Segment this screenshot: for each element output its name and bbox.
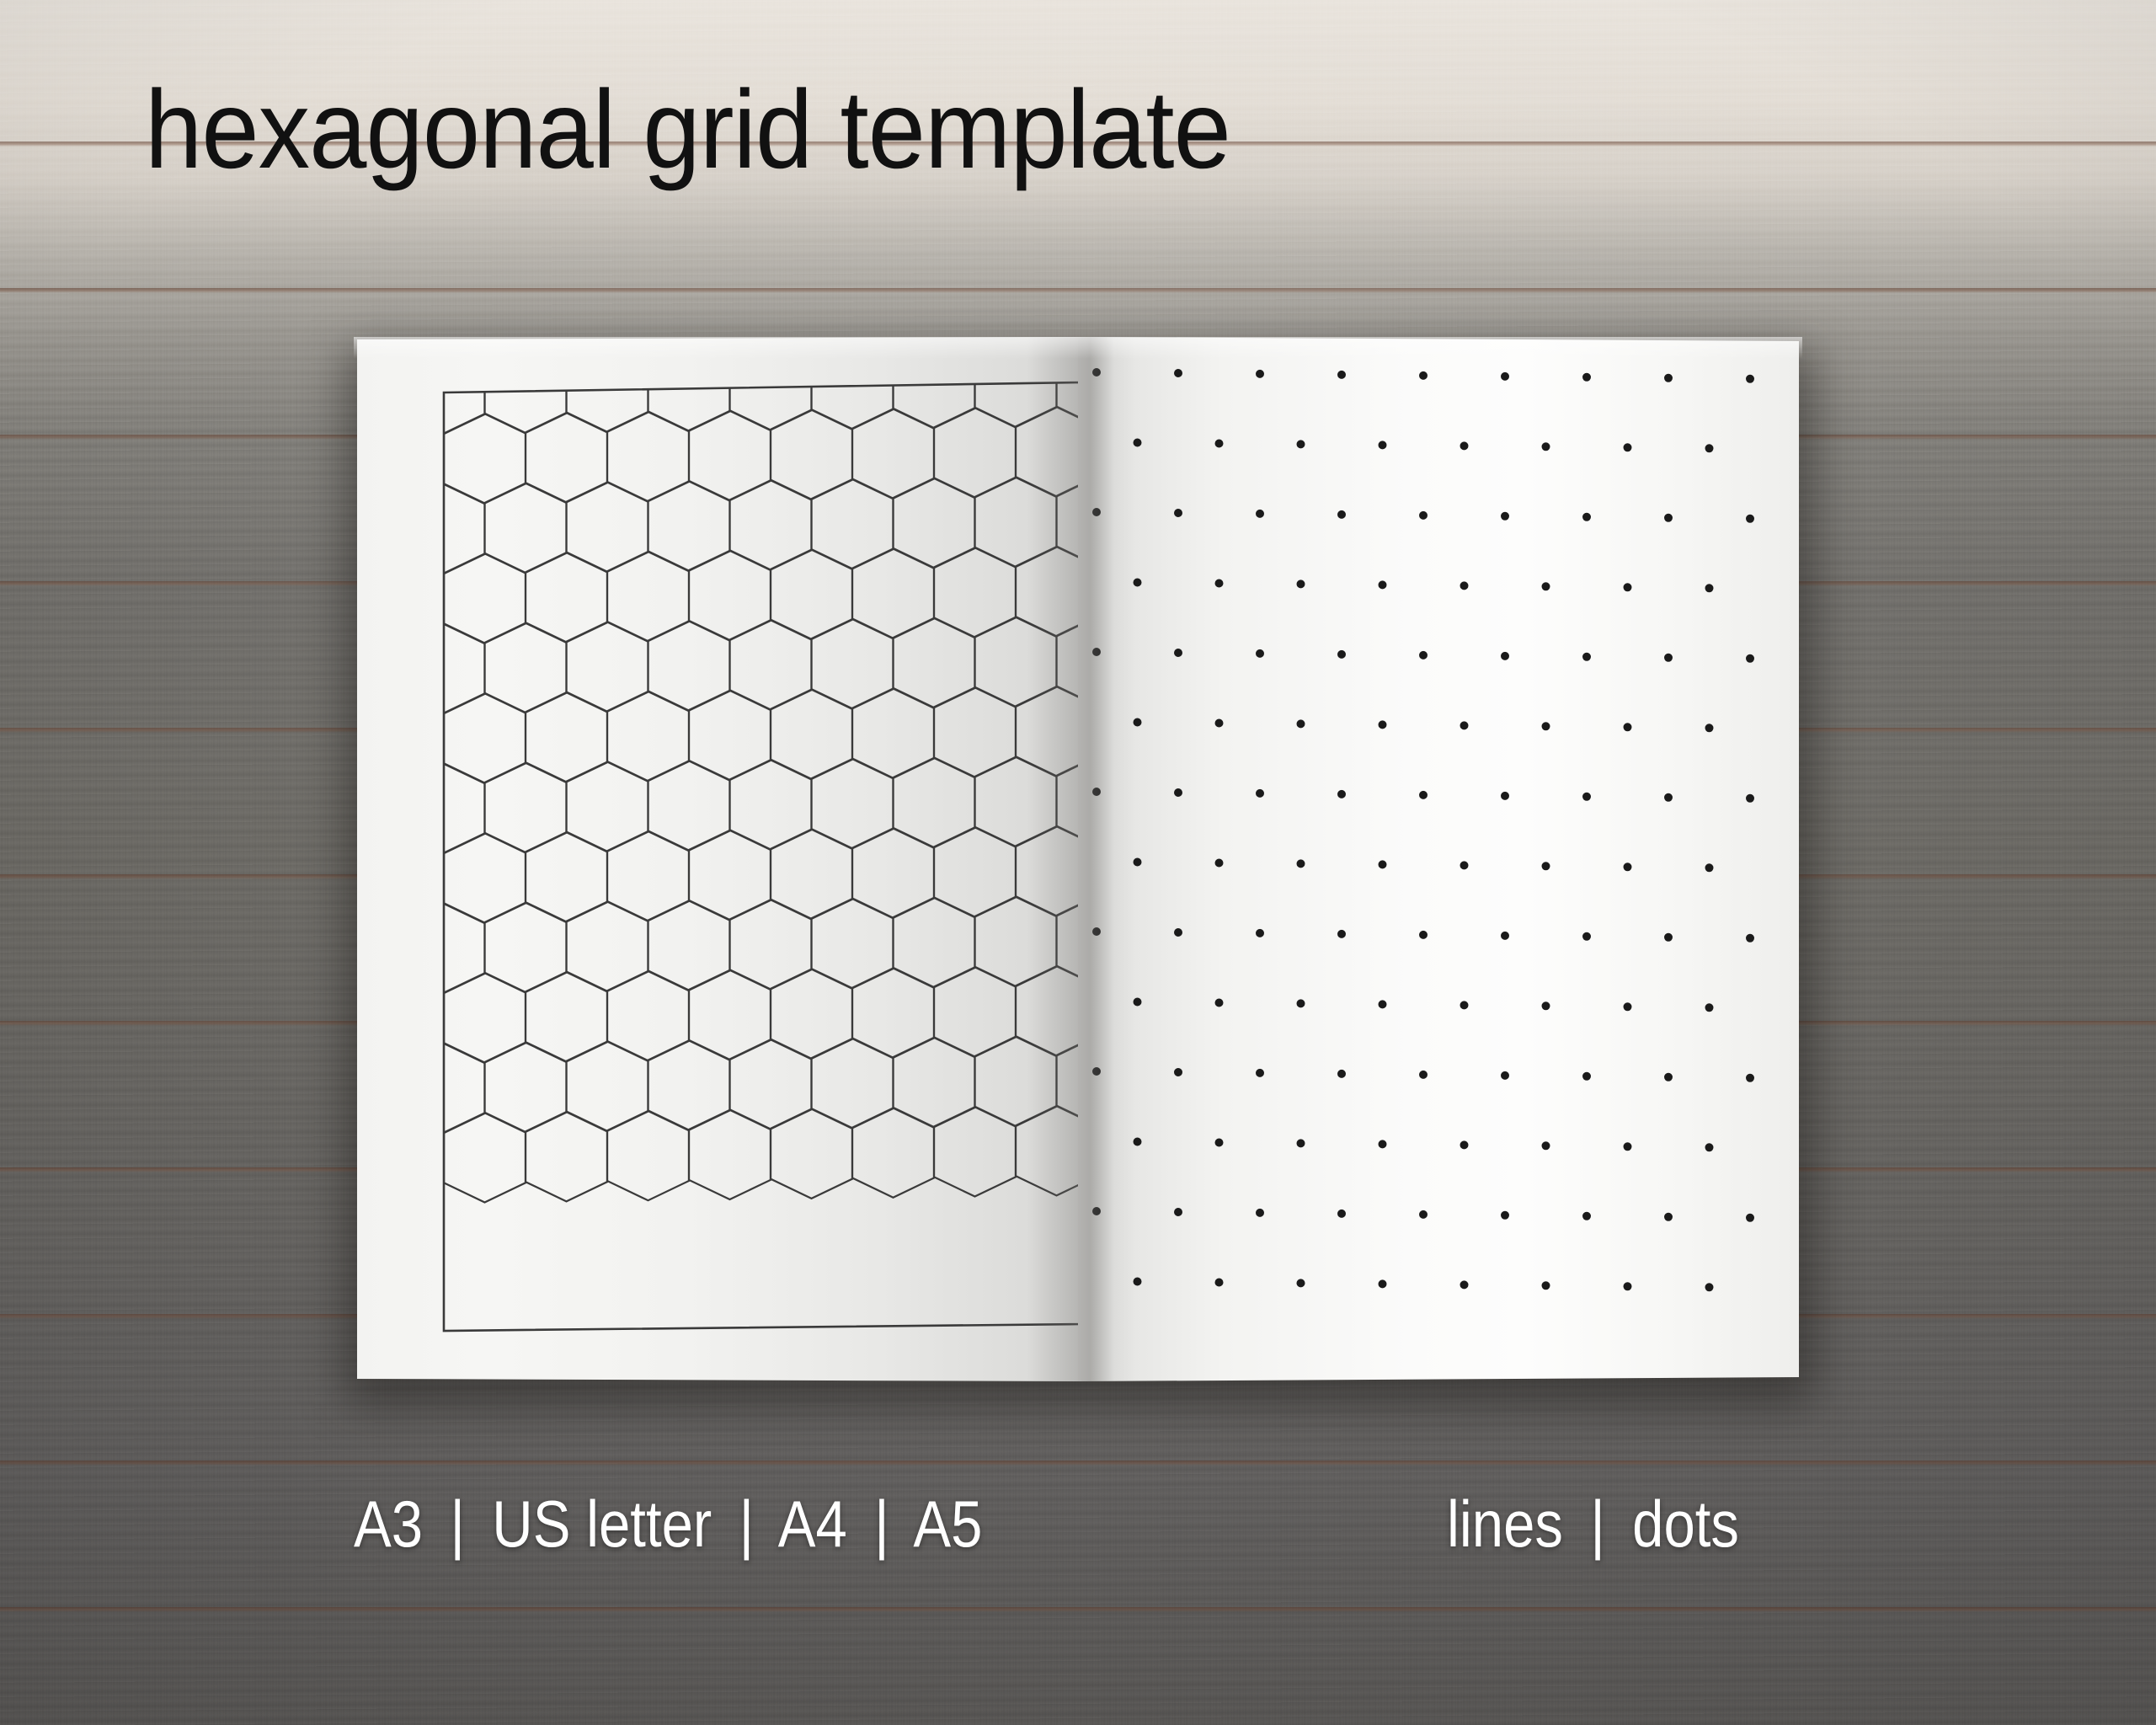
size-option-a4: A4 [778,1487,847,1561]
size-option-a5: A5 [913,1487,982,1561]
caption-separator: | [728,1487,766,1561]
right-page-dot-grid [1078,337,1799,1381]
caption-grid-styles: lines | dots [1447,1491,1739,1557]
page-title: hexagonal grid template [145,74,1915,185]
hexagonal-dot-pattern [1078,337,1799,1381]
caption-paper-sizes: A3 | US letter | A4 | A5 [354,1491,982,1557]
style-option-dots: dots [1632,1487,1739,1561]
caption-separator: | [1579,1487,1617,1561]
style-option-lines: lines [1447,1487,1563,1561]
caption-separator: | [862,1487,900,1561]
open-notebook-mockup [354,337,1802,1386]
size-option-a3: A3 [354,1487,423,1561]
hexagonal-grid-pattern [357,337,1081,1381]
size-option-us-letter: US letter [492,1487,712,1561]
left-page-hex-grid [357,337,1081,1381]
caption-separator: | [439,1487,477,1561]
